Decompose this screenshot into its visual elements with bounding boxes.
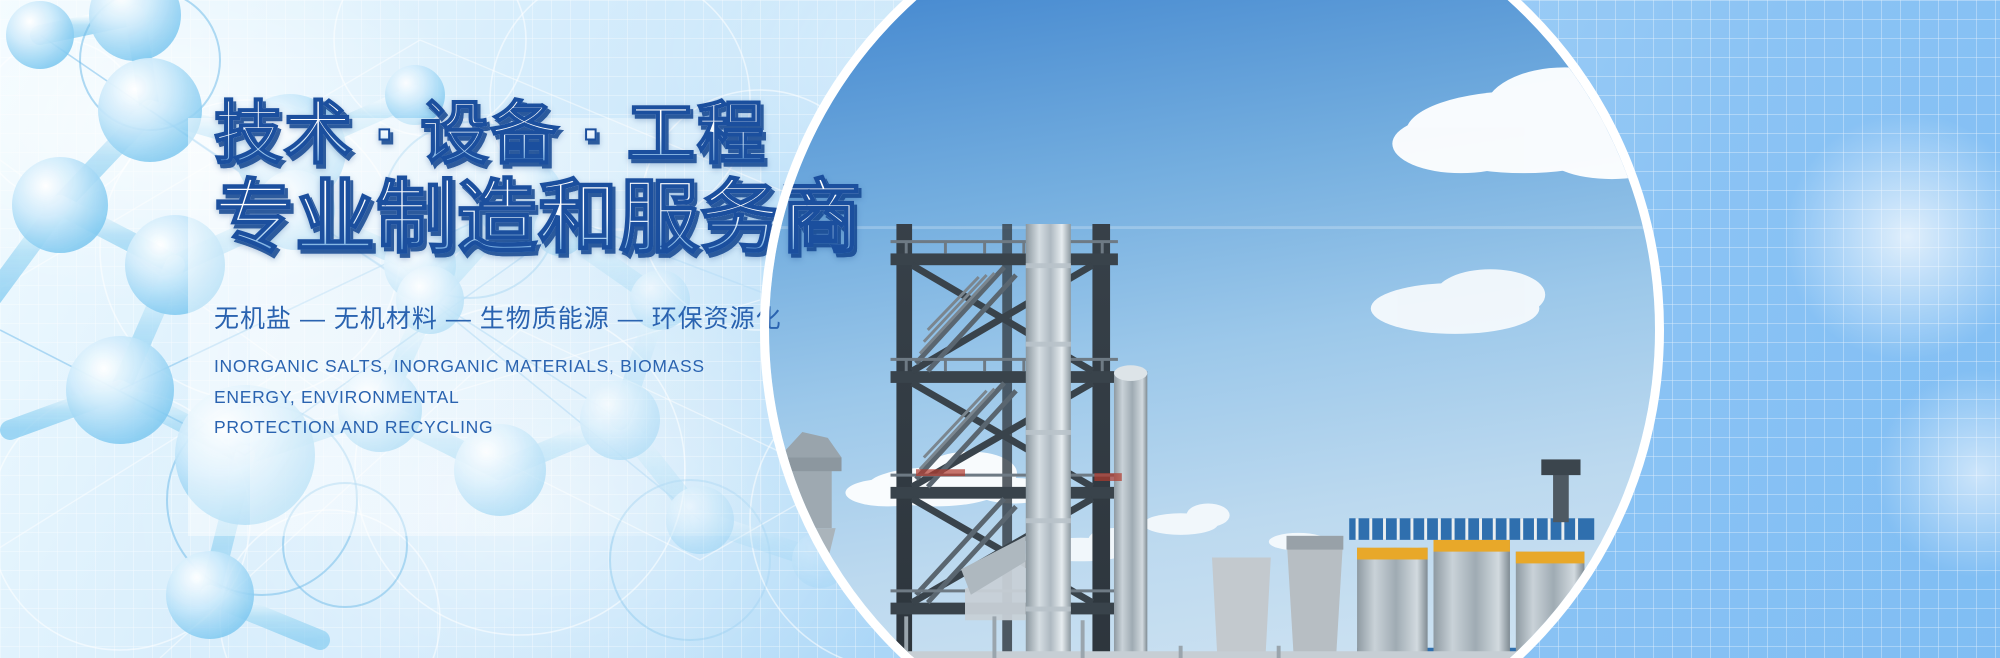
- headline-line-1-text: 技术 · 设备 · 工程: [214, 100, 767, 169]
- headline-line-1: 技术 · 设备 · 工程: [214, 100, 994, 169]
- hero-banner: 技术 · 设备 · 工程 专业制造和服务商 无机盐 — 无机材料 — 生物质能源…: [0, 0, 2000, 658]
- subtitle-english: INORGANIC SALTS, INORGANIC MATERIALS, BI…: [214, 351, 734, 443]
- subtitle-english-line-1: INORGANIC SALTS, INORGANIC MATERIALS, BI…: [214, 351, 734, 412]
- subtitle-english-line-2: PROTECTION AND RECYCLING: [214, 412, 734, 443]
- headline-line-2: 专业制造和服务商: [214, 177, 994, 259]
- subtitle-chinese: 无机盐 — 无机材料 — 生物质能源 — 环保资源化: [214, 299, 994, 335]
- headline-line-2-text: 专业制造和服务商: [214, 177, 862, 259]
- banner-text-block: 技术 · 设备 · 工程 专业制造和服务商 无机盐 — 无机材料 — 生物质能源…: [214, 100, 994, 443]
